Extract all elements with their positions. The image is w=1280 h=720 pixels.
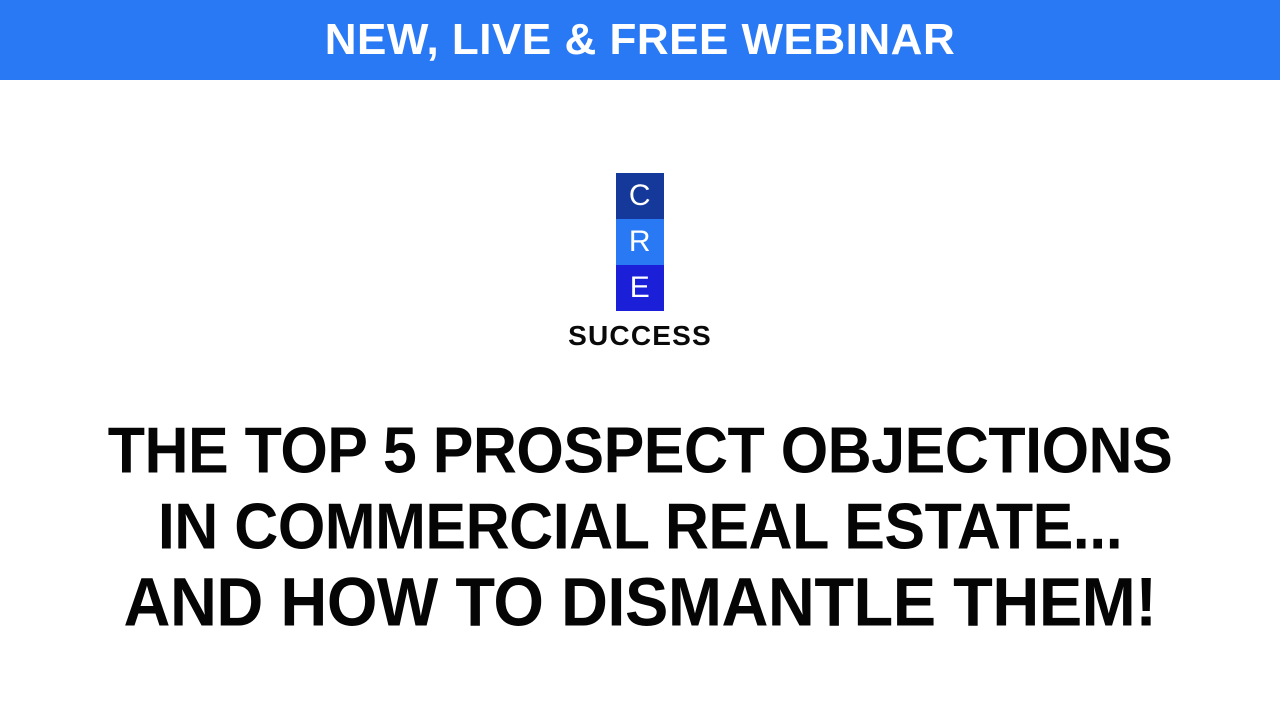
webinar-title-slide: NEW, LIVE & FREE WEBINAR C R E SUCCESS T… xyxy=(0,0,1280,720)
headline-line-2: IN COMMERCIAL REAL ESTATE... xyxy=(0,486,1280,567)
logo-square-stack: C R E xyxy=(616,173,664,311)
logo-square-r: R xyxy=(616,219,664,265)
logo-wordmark: SUCCESS xyxy=(568,322,712,350)
top-banner-text: NEW, LIVE & FREE WEBINAR xyxy=(325,18,955,62)
headline-line-3: AND HOW TO DISMANTLE THEM! xyxy=(0,562,1280,643)
top-banner: NEW, LIVE & FREE WEBINAR xyxy=(0,0,1280,80)
cre-success-logo: C R E SUCCESS xyxy=(568,173,712,350)
headline: THE TOP 5 PROSPECT OBJECTIONS IN COMMERC… xyxy=(0,412,1280,640)
headline-line-1: THE TOP 5 PROSPECT OBJECTIONS xyxy=(0,410,1280,491)
logo-square-c: C xyxy=(616,173,664,219)
logo-square-e: E xyxy=(616,265,664,311)
